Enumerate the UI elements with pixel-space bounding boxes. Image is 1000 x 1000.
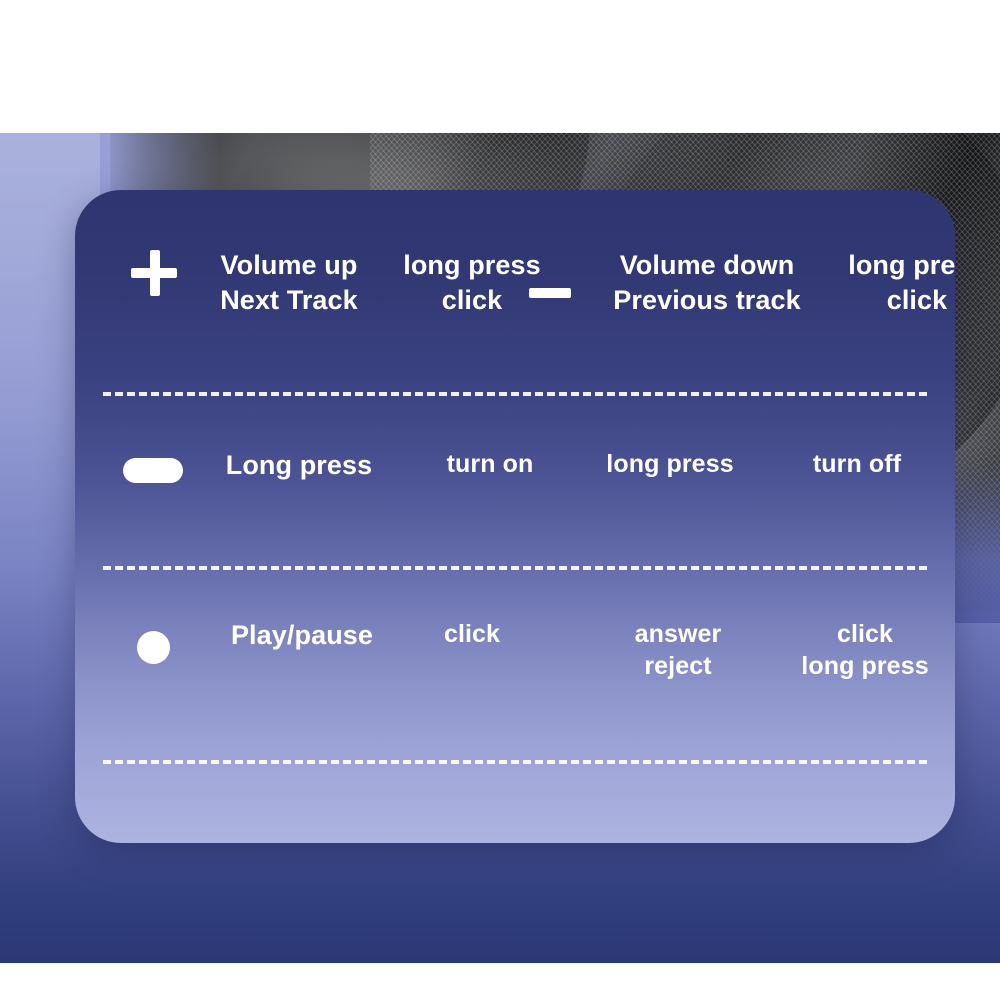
power-function: Long press bbox=[179, 448, 419, 483]
pill-toggle-icon bbox=[123, 458, 183, 483]
call-answer-action-label: click bbox=[759, 618, 955, 650]
call-reject-label: reject bbox=[585, 650, 771, 682]
volume-up-action-line1: long press bbox=[367, 248, 577, 283]
power-on-action: turn on bbox=[395, 448, 585, 480]
volume-up-action-line2: click bbox=[367, 283, 577, 318]
power-off-press: long press bbox=[567, 448, 773, 480]
row-playback: Play/pause click answer reject click lon… bbox=[75, 566, 955, 760]
volume-up-action: long press click bbox=[367, 248, 577, 317]
divider-3 bbox=[103, 760, 927, 764]
volume-down-function: Volume down Previous track bbox=[571, 248, 843, 317]
power-off-action: turn off bbox=[759, 448, 955, 480]
volume-down-label-line1: Volume down bbox=[571, 248, 843, 283]
screenshot-root: Volume up Next Track long press click Vo… bbox=[0, 0, 1000, 1000]
circle-button-icon bbox=[137, 631, 170, 664]
volume-down-label-line2: Previous track bbox=[571, 283, 843, 318]
volume-down-action-line2: click bbox=[815, 283, 955, 318]
power-on-label: turn on bbox=[395, 448, 585, 480]
call-action: click long press bbox=[759, 618, 955, 682]
row-power: Long press turn on long press turn off bbox=[75, 392, 955, 566]
power-function-label: Long press bbox=[179, 448, 419, 483]
call-reject-action-label: long press bbox=[759, 650, 955, 682]
power-off-label: turn off bbox=[759, 448, 955, 480]
call-function: answer reject bbox=[585, 618, 771, 682]
control-instructions-card: Volume up Next Track long press click Vo… bbox=[75, 190, 955, 843]
play-pause-action: click bbox=[389, 618, 555, 650]
call-answer-label: answer bbox=[585, 618, 771, 650]
play-pause-action-label: click bbox=[389, 618, 555, 650]
volume-down-action-line1: long press bbox=[815, 248, 955, 283]
volume-down-action: long press click bbox=[815, 248, 955, 317]
row-volume: Volume up Next Track long press click Vo… bbox=[75, 190, 955, 392]
power-off-press-label: long press bbox=[567, 448, 773, 480]
